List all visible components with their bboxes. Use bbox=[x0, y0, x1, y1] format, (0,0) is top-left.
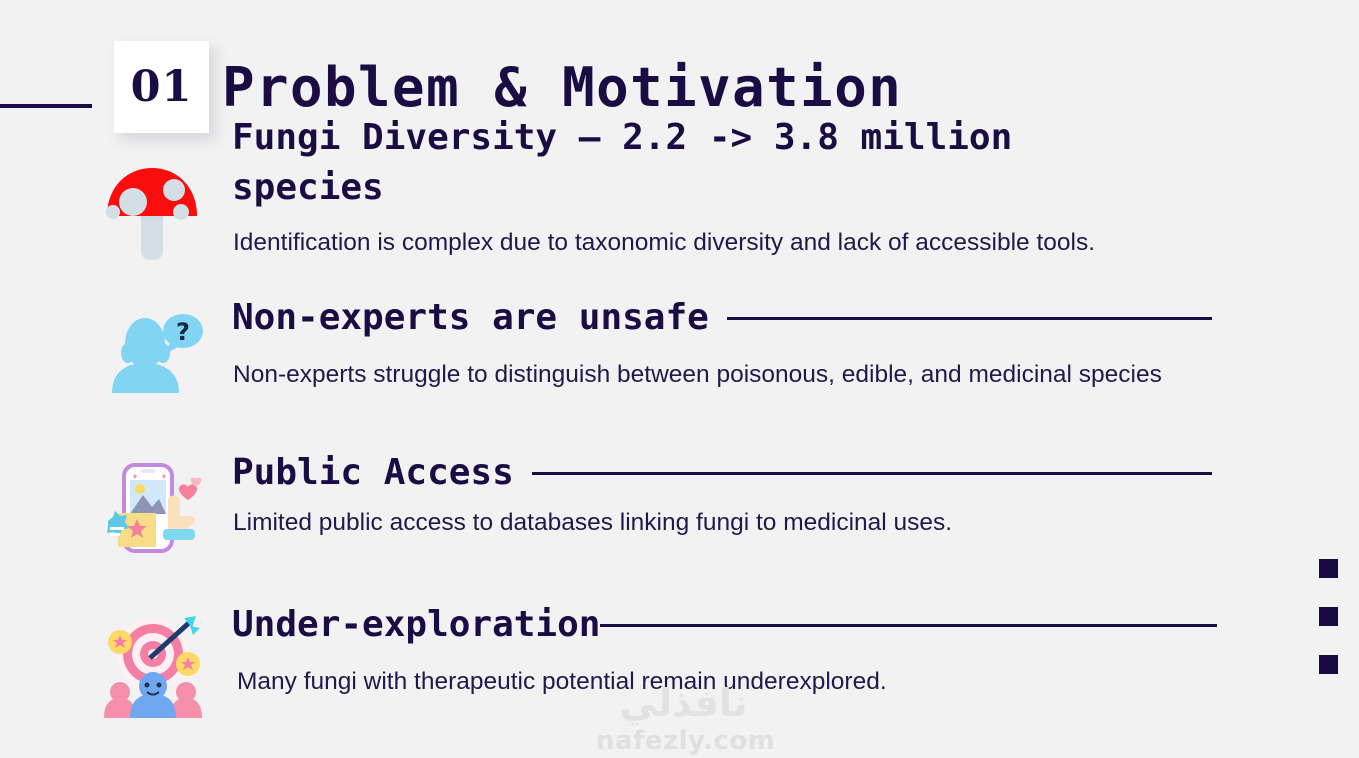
section-body-text: Many fungi with therapeutic potential re… bbox=[237, 667, 887, 697]
page-title: Problem & Motivation bbox=[222, 56, 902, 120]
decor-square-2 bbox=[1319, 607, 1338, 626]
watermark: نافذلي nafezly.com bbox=[596, 683, 771, 756]
section-body-text: Limited public access to databases linki… bbox=[233, 508, 952, 538]
section-body-text: Non-experts struggle to distinguish betw… bbox=[233, 360, 1162, 390]
section-heading: Non-experts are unsafe bbox=[232, 293, 709, 343]
section-heading: Public Access bbox=[232, 448, 514, 498]
target-audience-icon bbox=[98, 608, 208, 718]
section-rule bbox=[600, 624, 1217, 627]
section-heading-row: Public Access bbox=[232, 448, 1212, 498]
section-body-text: Identification is complex due to taxonom… bbox=[233, 228, 1095, 258]
smartphone-gallery-icon bbox=[100, 455, 210, 565]
section-heading-row: Under-exploration bbox=[232, 600, 1217, 650]
watermark-arabic: نافذلي bbox=[596, 683, 771, 723]
slide-canvas: 01 Problem & Motivation Fungi Diversity … bbox=[0, 0, 1359, 758]
decor-square-3 bbox=[1319, 655, 1338, 674]
section-rule bbox=[532, 472, 1212, 475]
watermark-latin: nafezly.com bbox=[596, 726, 771, 756]
mushroom-icon bbox=[97, 160, 207, 270]
section-heading: Under-exploration bbox=[232, 600, 600, 650]
slide-number-badge: 01 bbox=[114, 41, 209, 133]
slide-number-label: 01 bbox=[131, 62, 193, 112]
section-rule bbox=[727, 317, 1212, 320]
header-accent-rule bbox=[0, 104, 92, 108]
section-heading: Fungi Diversity – 2.2 -> 3.8 million spe… bbox=[232, 113, 1062, 213]
section-heading-row: Fungi Diversity – 2.2 -> 3.8 million spe… bbox=[232, 113, 1072, 213]
svg-text:?: ? bbox=[176, 318, 190, 346]
section-heading-row: Non-experts are unsafe bbox=[232, 293, 1212, 343]
decor-square-1 bbox=[1319, 559, 1338, 578]
person-question-icon: ? bbox=[100, 303, 210, 413]
